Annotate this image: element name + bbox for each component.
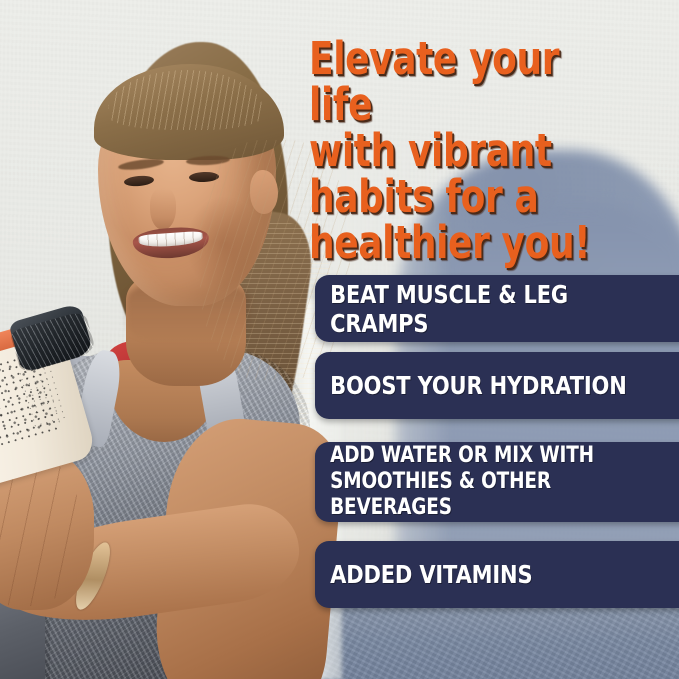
feature-pill-label: BEAT MUSCLE & LEG CRAMPS <box>315 280 633 338</box>
feature-pill: ADD WATER OR MIX WITH SMOOTHIES & OTHER … <box>315 442 679 522</box>
feature-pill-label: BOOST YOUR HYDRATION <box>315 371 627 400</box>
feature-pill-label: ADD WATER OR MIX WITH SMOOTHIES & OTHER … <box>315 443 633 521</box>
feature-pill-label: ADDED VITAMINS <box>315 560 532 589</box>
person-figure <box>0 20 350 679</box>
feature-pill: BOOST YOUR HYDRATION <box>315 352 679 419</box>
promo-poster: Elevate your life with vibrant habits fo… <box>0 0 679 679</box>
feature-pill: BEAT MUSCLE & LEG CRAMPS <box>315 275 679 342</box>
teeth-detail <box>138 231 203 248</box>
nose <box>150 188 176 230</box>
headline-text: Elevate your life with vibrant habits fo… <box>309 36 599 266</box>
feature-pill: ADDED VITAMINS <box>315 541 679 608</box>
